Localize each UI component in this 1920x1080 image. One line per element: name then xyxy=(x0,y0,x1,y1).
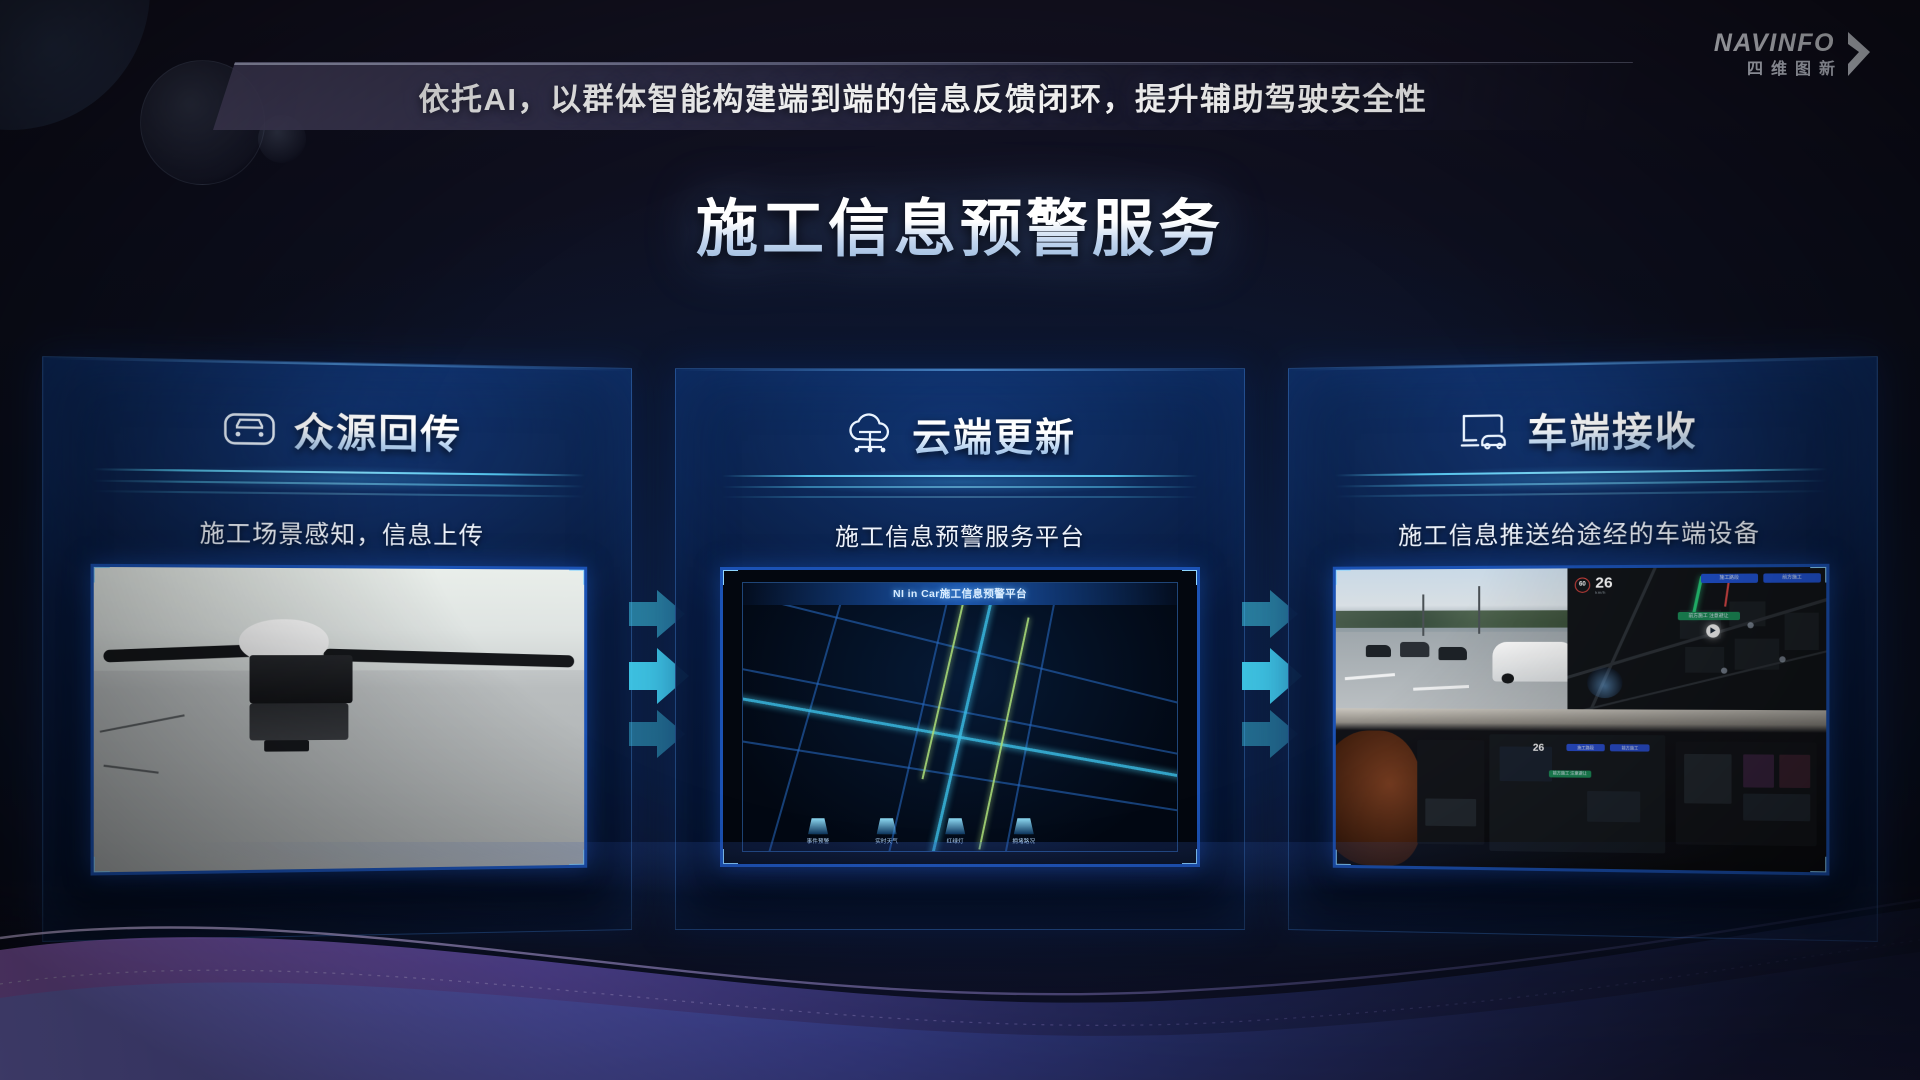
platform-header-text: NI in Car施工信息预警平台 xyxy=(893,586,1027,601)
frame-corner xyxy=(569,850,585,866)
beacon-icon xyxy=(808,818,828,834)
panel-media-frame[interactable]: 60 26 km/h 施工路段 前方施工 前方施工 注意避让 xyxy=(1333,564,1830,876)
frame-corner xyxy=(1810,566,1827,583)
panel-crowdsource[interactable]: 众源回传 施工场景感知，信息上传 xyxy=(42,356,632,942)
current-speed: 26 km/h xyxy=(1595,575,1612,595)
road-sign-pill: 施工路段 xyxy=(1566,744,1605,751)
lane-tip-pill: 前方施工 注意避让 xyxy=(1677,612,1739,620)
passenger-screen xyxy=(1676,742,1817,846)
platform-icon-item[interactable]: 红绿灯 xyxy=(932,818,978,845)
panel-vehicle-receive[interactable]: 车端接收 施工信息推送给途经的车端设备 xyxy=(1288,356,1878,942)
screen-car-icon xyxy=(1458,409,1511,454)
car-front-icon xyxy=(222,406,277,452)
banner-title: 依托AI，以群体智能构建端到端的信息反馈闭环，提升辅助驾驶安全性 xyxy=(213,62,1633,130)
platform-icon-item[interactable]: 事件预警 xyxy=(795,818,841,845)
frame-corner xyxy=(93,566,110,583)
header-banner: 依托AI，以群体智能构建端到端的信息反馈闭环，提升辅助驾驶安全性 xyxy=(213,62,1633,130)
road-sign-pill: 施工路段 xyxy=(1701,573,1758,583)
vehicle-cockpit-photo: 60 26 km/h 施工路段 前方施工 前方施工 注意避让 xyxy=(1336,567,1826,872)
platform-header-bar: NI in Car施工信息预警平台 xyxy=(743,583,1177,605)
panel-media-frame[interactable] xyxy=(91,564,588,876)
panel-title: 云端更新 xyxy=(912,407,1076,463)
panel-header: 众源回传 xyxy=(43,380,631,479)
panel-cloud-update[interactable]: 云端更新 施工信息预警服务平台 NI in Car施工信息预警平台 xyxy=(675,368,1245,930)
bokeh-circle-large xyxy=(0,0,150,130)
cloud-network-icon xyxy=(844,413,896,457)
frame-corner xyxy=(1182,849,1198,865)
chevron-right-icon xyxy=(1844,30,1874,78)
panel-subtitle: 施工信息推送给途经的车端设备 xyxy=(1289,511,1877,552)
road-camera-view xyxy=(1336,568,1567,709)
platform-map: 事件预警 实时天气 红绿灯 xyxy=(743,605,1177,852)
logo-en-text: NAVINFO xyxy=(1714,31,1835,56)
frame-corner xyxy=(722,569,738,585)
dashcam-windshield-photo xyxy=(94,567,584,872)
frame-corner xyxy=(569,569,585,585)
panel-title: 车端接收 xyxy=(1527,400,1698,460)
panel-plinth xyxy=(722,475,1198,501)
flow-stage: 众源回传 施工场景感知，信息上传 xyxy=(62,368,1858,930)
frame-corner xyxy=(1182,569,1198,585)
center-map-screen: 施工路段 前方施工 前方施工 注意避让 xyxy=(1489,734,1665,854)
cockpit-dashboard-photo: 施工路段 前方施工 前方施工 注意避让 26 xyxy=(1336,708,1826,872)
navigation-map-view: 60 26 km/h 施工路段 前方施工 前方施工 注意避让 xyxy=(1567,567,1826,711)
dashboard-speed: 26 xyxy=(1533,743,1544,754)
platform-icon-item[interactable]: 拥堵路况 xyxy=(1001,818,1047,845)
speed-limit-badge: 60 xyxy=(1575,577,1591,592)
platform-icon-item[interactable]: 实时天气 xyxy=(864,818,910,845)
panel-header: 车端接收 xyxy=(1289,380,1877,479)
beacon-icon xyxy=(1014,818,1034,834)
platform-icon-row: 事件预警 实时天气 红绿灯 xyxy=(795,811,1047,845)
panel-media-frame[interactable]: NI in Car施工信息预警平台 xyxy=(720,567,1200,867)
navinfo-logo: NAVINFO 四维图新 xyxy=(1714,30,1874,78)
beacon-icon xyxy=(877,818,897,834)
panel-plinth xyxy=(1335,468,1828,500)
platform-screen: NI in Car施工信息预警平台 xyxy=(723,570,1197,864)
frame-corner xyxy=(1335,569,1351,585)
panel-title: 众源回传 xyxy=(293,401,462,461)
panel-subtitle: 施工场景感知，信息上传 xyxy=(43,511,631,552)
frame-corner xyxy=(1810,857,1827,874)
cockpit-top-row: 60 26 km/h 施工路段 前方施工 前方施工 注意避让 xyxy=(1336,567,1826,711)
panel-plinth xyxy=(93,468,586,500)
frame-corner xyxy=(1335,850,1351,866)
steering-wheel xyxy=(1336,730,1422,866)
page-title: 施工信息预警服务 xyxy=(0,178,1920,268)
beacon-icon xyxy=(945,818,965,834)
logo-cn-text: 四维图新 xyxy=(1747,62,1843,78)
panel-subtitle: 施工信息预警服务平台 xyxy=(676,517,1244,552)
road-sign-pill: 前方施工 xyxy=(1610,744,1649,751)
lane-tip-pill: 前方施工 注意避让 xyxy=(1549,770,1591,778)
speed-hud: 60 26 km/h xyxy=(1575,575,1613,595)
frame-corner xyxy=(93,857,110,874)
slide-root: 依托AI，以群体智能构建端到端的信息反馈闭环，提升辅助驾驶安全性 NAVINFO… xyxy=(0,0,1920,1080)
frame-corner xyxy=(722,849,738,865)
panel-header: 云端更新 xyxy=(676,391,1244,479)
logo-wordmark: NAVINFO 四维图新 xyxy=(1714,31,1835,78)
instrument-cluster xyxy=(1417,740,1484,845)
